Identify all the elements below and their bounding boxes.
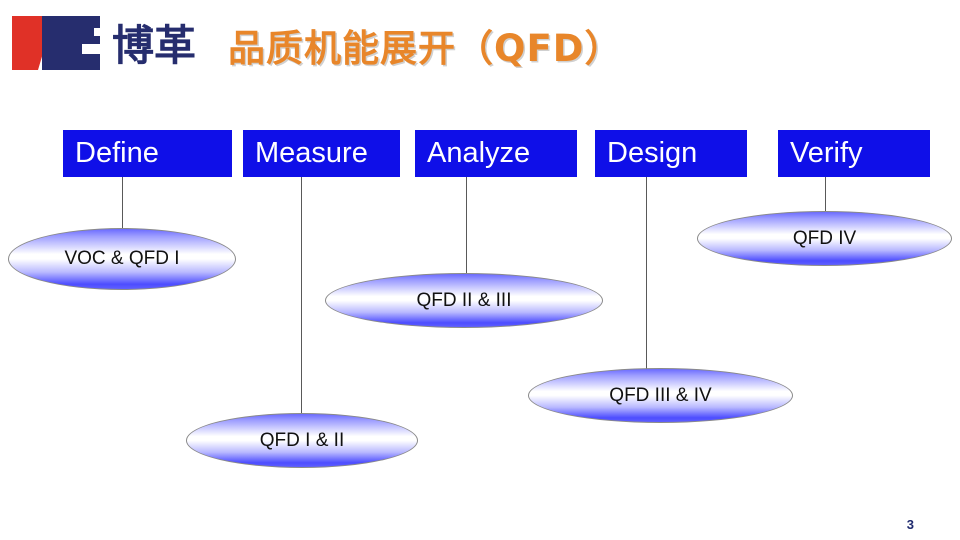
page-title: 品质机能展开（QFD） (228, 18, 622, 72)
page-number: 3 (907, 517, 914, 532)
oval-qfd-iii-iv-label: QFD III & IV (599, 384, 721, 408)
bg-logo-icon: 博革 (8, 14, 208, 72)
oval-qfd-i-ii-label: QFD I & II (250, 429, 354, 453)
company-logo: 博革 (8, 14, 208, 72)
slide-canvas: 博革 品质机能展开（QFD） DefineMeasureAnalyzeDesig… (0, 0, 960, 540)
oval-qfd-i-ii[interactable]: QFD I & II (186, 413, 418, 468)
oval-qfd-ii-iii-label: QFD II & III (406, 289, 521, 313)
oval-voc-qfd-i[interactable]: VOC & QFD I (8, 228, 236, 290)
connector-measure (301, 177, 302, 427)
phase-box-define[interactable]: Define (63, 130, 232, 177)
oval-qfd-ii-iii[interactable]: QFD II & III (325, 273, 603, 328)
connector-design (646, 177, 647, 378)
oval-voc-qfd-i-label: VOC & QFD I (54, 247, 189, 271)
phase-box-analyze[interactable]: Analyze (415, 130, 577, 177)
oval-qfd-iii-iv[interactable]: QFD III & IV (528, 368, 793, 423)
phase-box-verify[interactable]: Verify (778, 130, 930, 177)
phase-box-design[interactable]: Design (595, 130, 747, 177)
oval-qfd-iv[interactable]: QFD IV (697, 211, 952, 266)
connector-analyze (466, 177, 467, 282)
oval-qfd-iv-label: QFD IV (783, 227, 866, 251)
logo-wordmark: 博革 (112, 21, 196, 70)
phase-box-measure[interactable]: Measure (243, 130, 400, 177)
